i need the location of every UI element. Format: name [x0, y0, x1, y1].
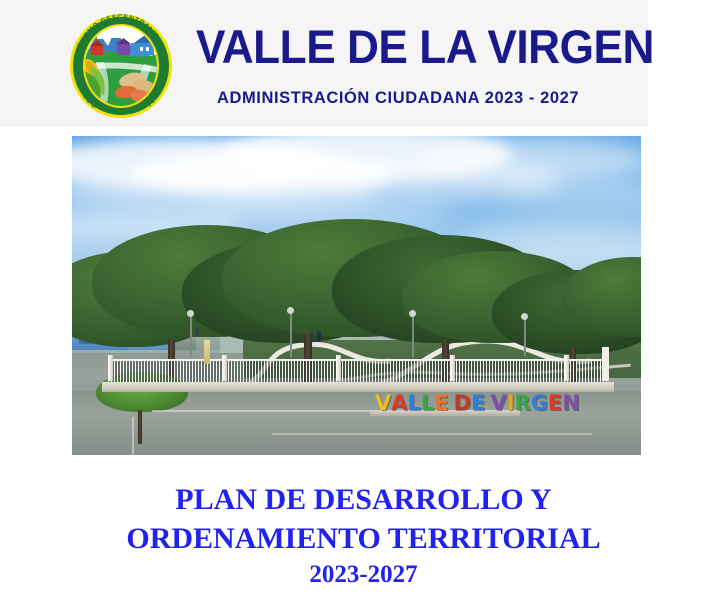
- fence-gate-post: [602, 347, 609, 381]
- fence-post: [564, 355, 569, 381]
- lamp-head: [521, 313, 528, 320]
- cover-photo: VALLEDEVIRGEN: [72, 136, 641, 455]
- sign-letter: N: [562, 393, 579, 414]
- lamp-post: [190, 315, 192, 357]
- organization-title: VALLE DE LA VIRGEN: [196, 22, 610, 72]
- lamp-post: [290, 311, 292, 357]
- sign-letter: V: [375, 393, 390, 414]
- sign-letter: I: [507, 393, 514, 414]
- lamp-head: [409, 310, 416, 317]
- document-title: PLAN DE DESARROLLO Y ORDENAMIENTO TERRIT…: [0, 480, 727, 558]
- bollard: [204, 340, 210, 364]
- sign-letter: R: [515, 393, 530, 414]
- lamp-post: [412, 315, 414, 357]
- sign-letter: A: [391, 393, 406, 414]
- sign-letter: V: [490, 393, 505, 414]
- lamp-head: [187, 310, 194, 317]
- fence-post: [222, 355, 227, 381]
- fence-post: [108, 355, 113, 381]
- gad-parroquial-seal-logo: GOBIERNO AUTÓNOMO DESCENTRALIZADO PARROQ…: [60, 10, 182, 119]
- sign-letter: L: [421, 393, 433, 414]
- valle-de-virgen-letter-sign: VALLEDEVIRGEN: [375, 388, 579, 414]
- lamp-head: [287, 307, 294, 314]
- pavement-seam: [132, 417, 134, 455]
- person: [196, 327, 199, 336]
- sign-letter: D: [454, 393, 470, 414]
- sign-letter: E: [471, 393, 484, 414]
- sign-letter: L: [408, 393, 420, 414]
- document-title-line-1: PLAN DE DESARROLLO Y: [0, 480, 727, 519]
- park-fence: [108, 359, 608, 383]
- document-years: 2023-2027: [0, 561, 727, 589]
- person: [310, 332, 314, 342]
- document-title-line-2: ORDENAMIENTO TERRITORIAL: [0, 519, 727, 558]
- sign-letter: G: [531, 393, 547, 414]
- cloud: [422, 136, 641, 182]
- sign-letter: E: [548, 393, 561, 414]
- pavement-seam: [272, 433, 592, 435]
- foreground-tree-trunk: [138, 410, 142, 444]
- fence-post: [336, 355, 341, 381]
- sign-letter: E: [434, 393, 447, 414]
- lamp-post: [524, 318, 526, 356]
- organization-subtitle: ADMINISTRACIÓN CIUDADANA 2023 - 2027: [217, 88, 624, 108]
- person: [317, 331, 321, 342]
- seal-icon: GOBIERNO AUTÓNOMO DESCENTRALIZADO PARROQ…: [60, 10, 182, 119]
- fence-post: [450, 355, 455, 381]
